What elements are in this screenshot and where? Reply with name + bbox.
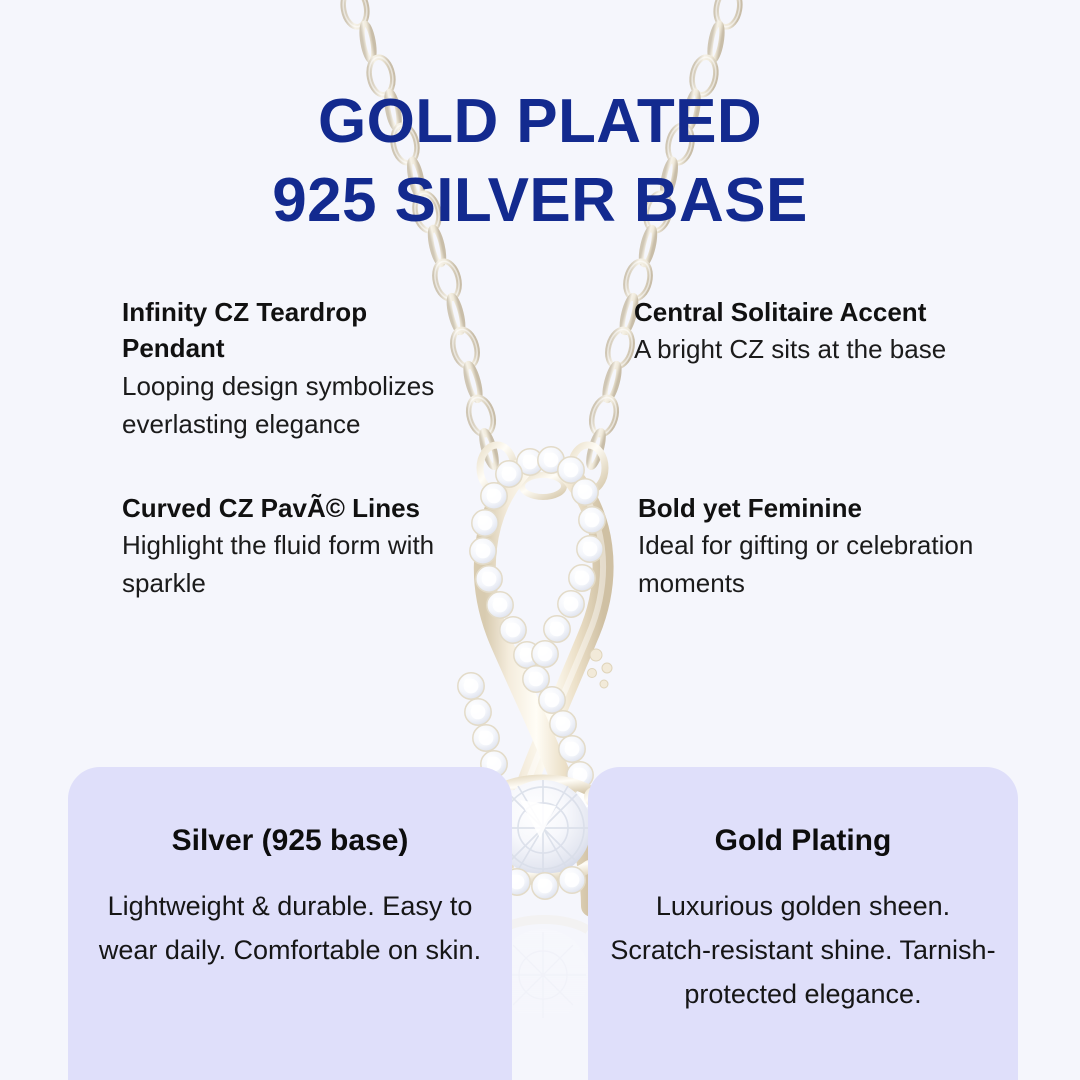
feature-title: Central Solitaire Accent (634, 294, 986, 330)
title-line-2: 925 SILVER BASE (0, 161, 1080, 240)
card-title: Silver (925 base) (68, 767, 512, 860)
feature-title: Curved CZ PavÃ© Lines (122, 490, 470, 526)
feature-body: A bright CZ sits at the base (634, 331, 986, 369)
feature-infinity-cz-teardrop-pendant: Infinity CZ Teardrop Pendant Looping des… (122, 294, 462, 444)
feature-bold-yet-feminine: Bold yet Feminine Ideal for gifting or c… (638, 490, 990, 603)
page-title: GOLD PLATED 925 SILVER BASE (0, 82, 1080, 241)
title-line-1: GOLD PLATED (0, 82, 1080, 161)
card-title: Gold Plating (588, 767, 1018, 860)
feature-curved-cz-pave-lines: Curved CZ PavÃ© Lines Highlight the flui… (122, 490, 470, 603)
card-body: Luxurious golden sheen. Scratch-resistan… (588, 860, 1018, 1016)
card-silver: Silver (925 base) Lightweight & durable.… (68, 767, 512, 1080)
feature-body: Highlight the fluid form with sparkle (122, 527, 470, 603)
infographic-canvas: GOLD PLATED 925 SILVER BASE Infinity CZ … (0, 0, 1080, 1080)
feature-title: Infinity CZ Teardrop Pendant (122, 294, 462, 367)
card-body: Lightweight & durable. Easy to wear dail… (68, 860, 512, 972)
feature-body: Ideal for gifting or celebration moments (638, 527, 990, 603)
card-gold-plating: Gold Plating Luxurious golden sheen. Scr… (588, 767, 1018, 1080)
feature-body: Looping design symbolizes everlasting el… (122, 368, 462, 444)
feature-central-solitaire-accent: Central Solitaire Accent A bright CZ sit… (634, 294, 986, 369)
feature-title: Bold yet Feminine (638, 490, 990, 526)
